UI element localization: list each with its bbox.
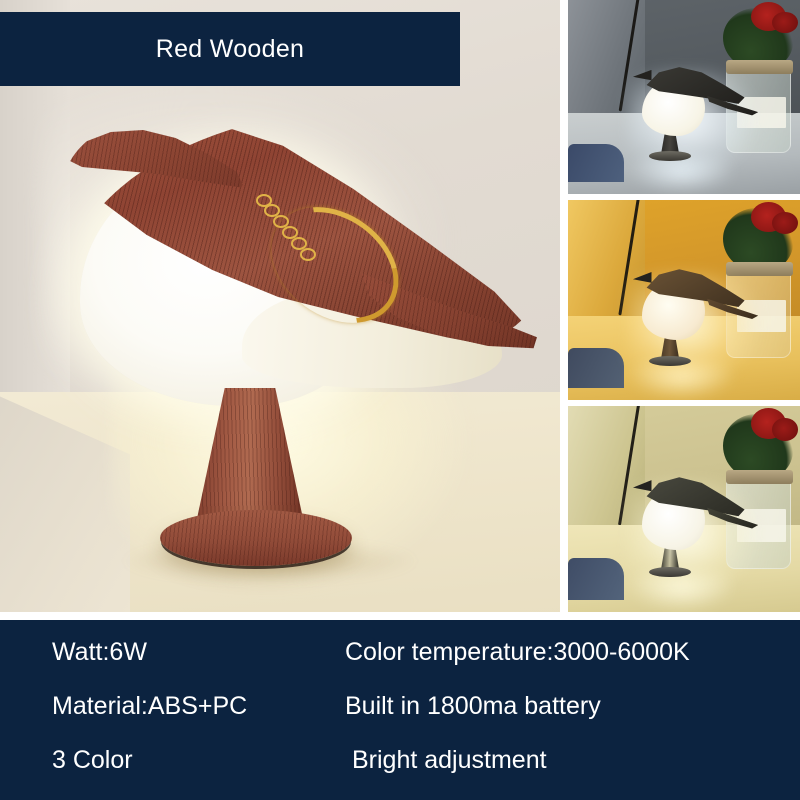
specifications-panel: Watt:6W Color temperature:3000-6000K Mat… <box>0 620 800 800</box>
spec-battery: Built in 1800ma battery <box>345 692 601 721</box>
scene-rose <box>772 418 798 441</box>
gold-chain-detail <box>254 192 384 312</box>
variant-title-text: Red Wooden <box>156 35 304 64</box>
spec-row: Material:ABS+PC Built in 1800ma battery <box>0 682 800 730</box>
hero-product-photo[interactable]: Red Wooden <box>0 0 560 612</box>
scene-cool-white <box>568 0 800 194</box>
spec-color-count: 3 Color <box>52 746 133 775</box>
product-detail-page: Red Wooden <box>0 0 800 800</box>
scene-warm-amber <box>568 200 800 400</box>
variant-title-banner: Red Wooden <box>0 12 460 86</box>
scene-rose <box>772 212 798 234</box>
scene-rose <box>772 12 798 33</box>
spec-row: 3 Color Bright adjustment <box>0 736 800 784</box>
scene-lamp-base <box>649 356 691 366</box>
chain-link <box>300 248 316 261</box>
spec-row: Watt:6W Color temperature:3000-6000K <box>0 628 800 676</box>
thumbnail-column <box>568 0 800 620</box>
bird-lamp-body <box>62 108 532 408</box>
spec-material: Material:ABS+PC <box>52 692 247 721</box>
scene-warm-white <box>568 406 800 612</box>
product-gallery: Red Wooden <box>0 0 800 620</box>
thumbnail-warm-white[interactable] <box>568 406 800 612</box>
scene-blanket <box>568 558 624 599</box>
spec-brightness: Bright adjustment <box>352 746 547 775</box>
thumbnail-warm-amber[interactable] <box>568 200 800 400</box>
spec-color-temperature: Color temperature:3000-6000K <box>345 638 690 667</box>
lamp-wooden-base <box>160 510 352 566</box>
scene-lamp-base <box>649 151 691 161</box>
spec-watt: Watt:6W <box>52 638 147 667</box>
scene-blanket <box>568 144 624 183</box>
scene-lamp-base <box>649 567 691 577</box>
thumbnail-cool-white[interactable] <box>568 0 800 194</box>
scene-blanket <box>568 348 624 388</box>
